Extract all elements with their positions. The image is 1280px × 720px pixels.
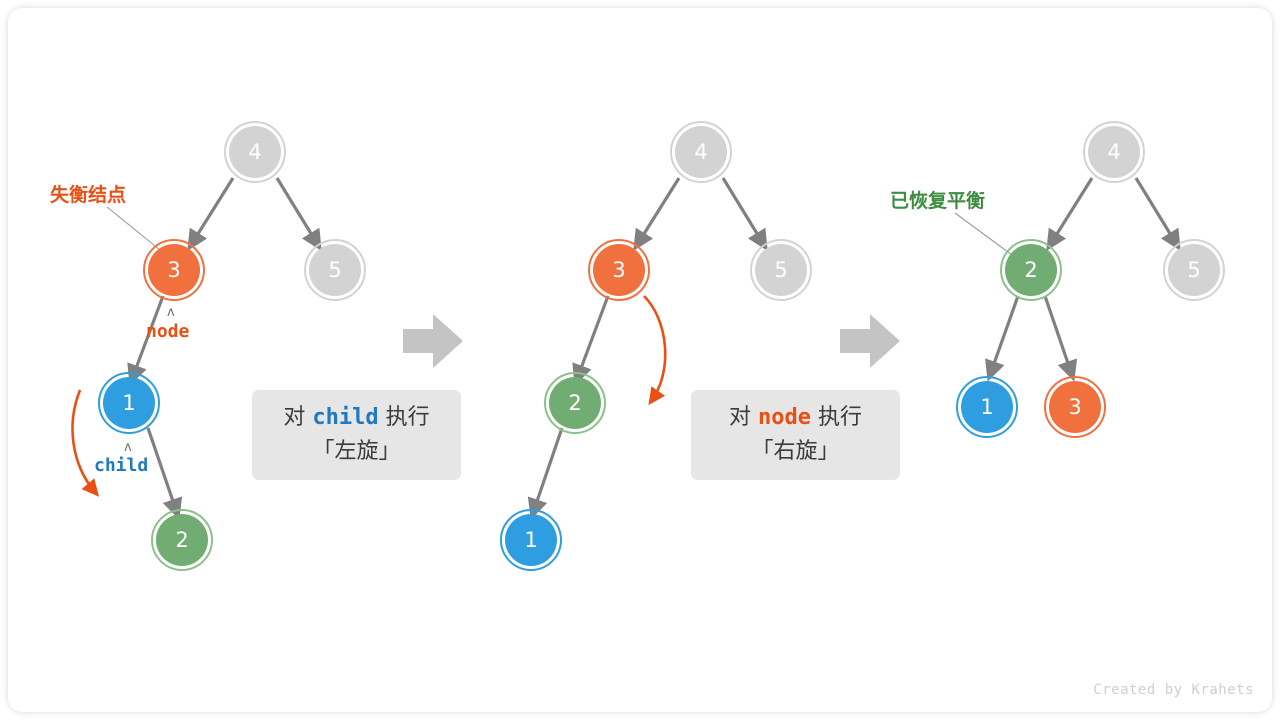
caption-prefix: 对 (729, 405, 751, 430)
tree1-node-5[interactable]: 5 (309, 244, 361, 296)
caption-line-1: 对 node 执行 (729, 401, 862, 435)
caption-left-rotation: 对 child 执行 「左旋」 (252, 390, 461, 480)
node-value: 1 (980, 397, 993, 418)
node-value: 5 (328, 260, 341, 281)
left-rotation-hint-arrow (73, 390, 95, 492)
right-rotation-hint-arrow (644, 296, 665, 400)
tree3-node-5[interactable]: 5 (1168, 244, 1220, 296)
node-value: 4 (1107, 142, 1120, 163)
tree2-node-2[interactable]: 2 (549, 377, 601, 429)
node-caret-icon: ʌ (167, 305, 175, 320)
edges-layer (0, 0, 1280, 720)
node-value: 1 (524, 530, 537, 551)
tree1-node-2[interactable]: 2 (156, 514, 208, 566)
callout-leader-line (107, 207, 160, 250)
caption-suffix: 执行 (818, 405, 862, 430)
step-arrow-2 (840, 311, 902, 371)
caption-line-2: 「右旋」 (751, 435, 839, 469)
node-value: 2 (175, 530, 188, 551)
tree3-node-3[interactable]: 3 (1049, 381, 1101, 433)
tree3-edges (955, 178, 1177, 375)
node-value: 3 (167, 260, 180, 281)
caption-keyword: node (758, 405, 811, 430)
unbalanced-node-label: 失衡结点 (50, 180, 126, 207)
caption-suffix: 执行 (386, 405, 430, 430)
caption-prefix: 对 (283, 405, 305, 430)
callout-leader-line-2 (955, 213, 1012, 255)
caption-line-1: 对 child 执行 (283, 401, 429, 435)
caption-keyword: child (312, 405, 378, 430)
child-pointer-label: child (94, 455, 148, 476)
step-arrow-1 (403, 311, 465, 371)
node-value: 5 (1187, 260, 1200, 281)
tree3-node-4[interactable]: 4 (1088, 126, 1140, 178)
node-value: 3 (1068, 397, 1081, 418)
tree2-node-3[interactable]: 3 (593, 244, 645, 296)
tree2-node-5[interactable]: 5 (755, 244, 807, 296)
tree1-node-3[interactable]: 3 (148, 244, 200, 296)
diagram-canvas: 4 3 5 1 2 失衡结点 ʌ node ʌ child 对 child 执行… (0, 0, 1280, 720)
node-value: 3 (612, 260, 625, 281)
tree1-node-4[interactable]: 4 (229, 126, 281, 178)
node-value: 2 (1024, 260, 1037, 281)
tree1-node-1[interactable]: 1 (103, 377, 155, 429)
node-value: 4 (694, 142, 707, 163)
tree3-node-2[interactable]: 2 (1005, 244, 1057, 296)
credit-watermark: Created by Krahets (1093, 682, 1254, 698)
node-value: 1 (122, 393, 135, 414)
caption-line-2: 「左旋」 (312, 435, 400, 469)
node-pointer-label: node (146, 321, 189, 342)
tree2-node-1[interactable]: 1 (505, 514, 557, 566)
tree2-node-4[interactable]: 4 (675, 126, 727, 178)
child-caret-icon: ʌ (124, 440, 132, 455)
rebalanced-label: 已恢复平衡 (890, 186, 985, 213)
node-value: 5 (774, 260, 787, 281)
caption-right-rotation: 对 node 执行 「右旋」 (691, 390, 900, 480)
node-value: 4 (248, 142, 261, 163)
tree3-node-1[interactable]: 1 (961, 381, 1013, 433)
node-value: 2 (568, 393, 581, 414)
